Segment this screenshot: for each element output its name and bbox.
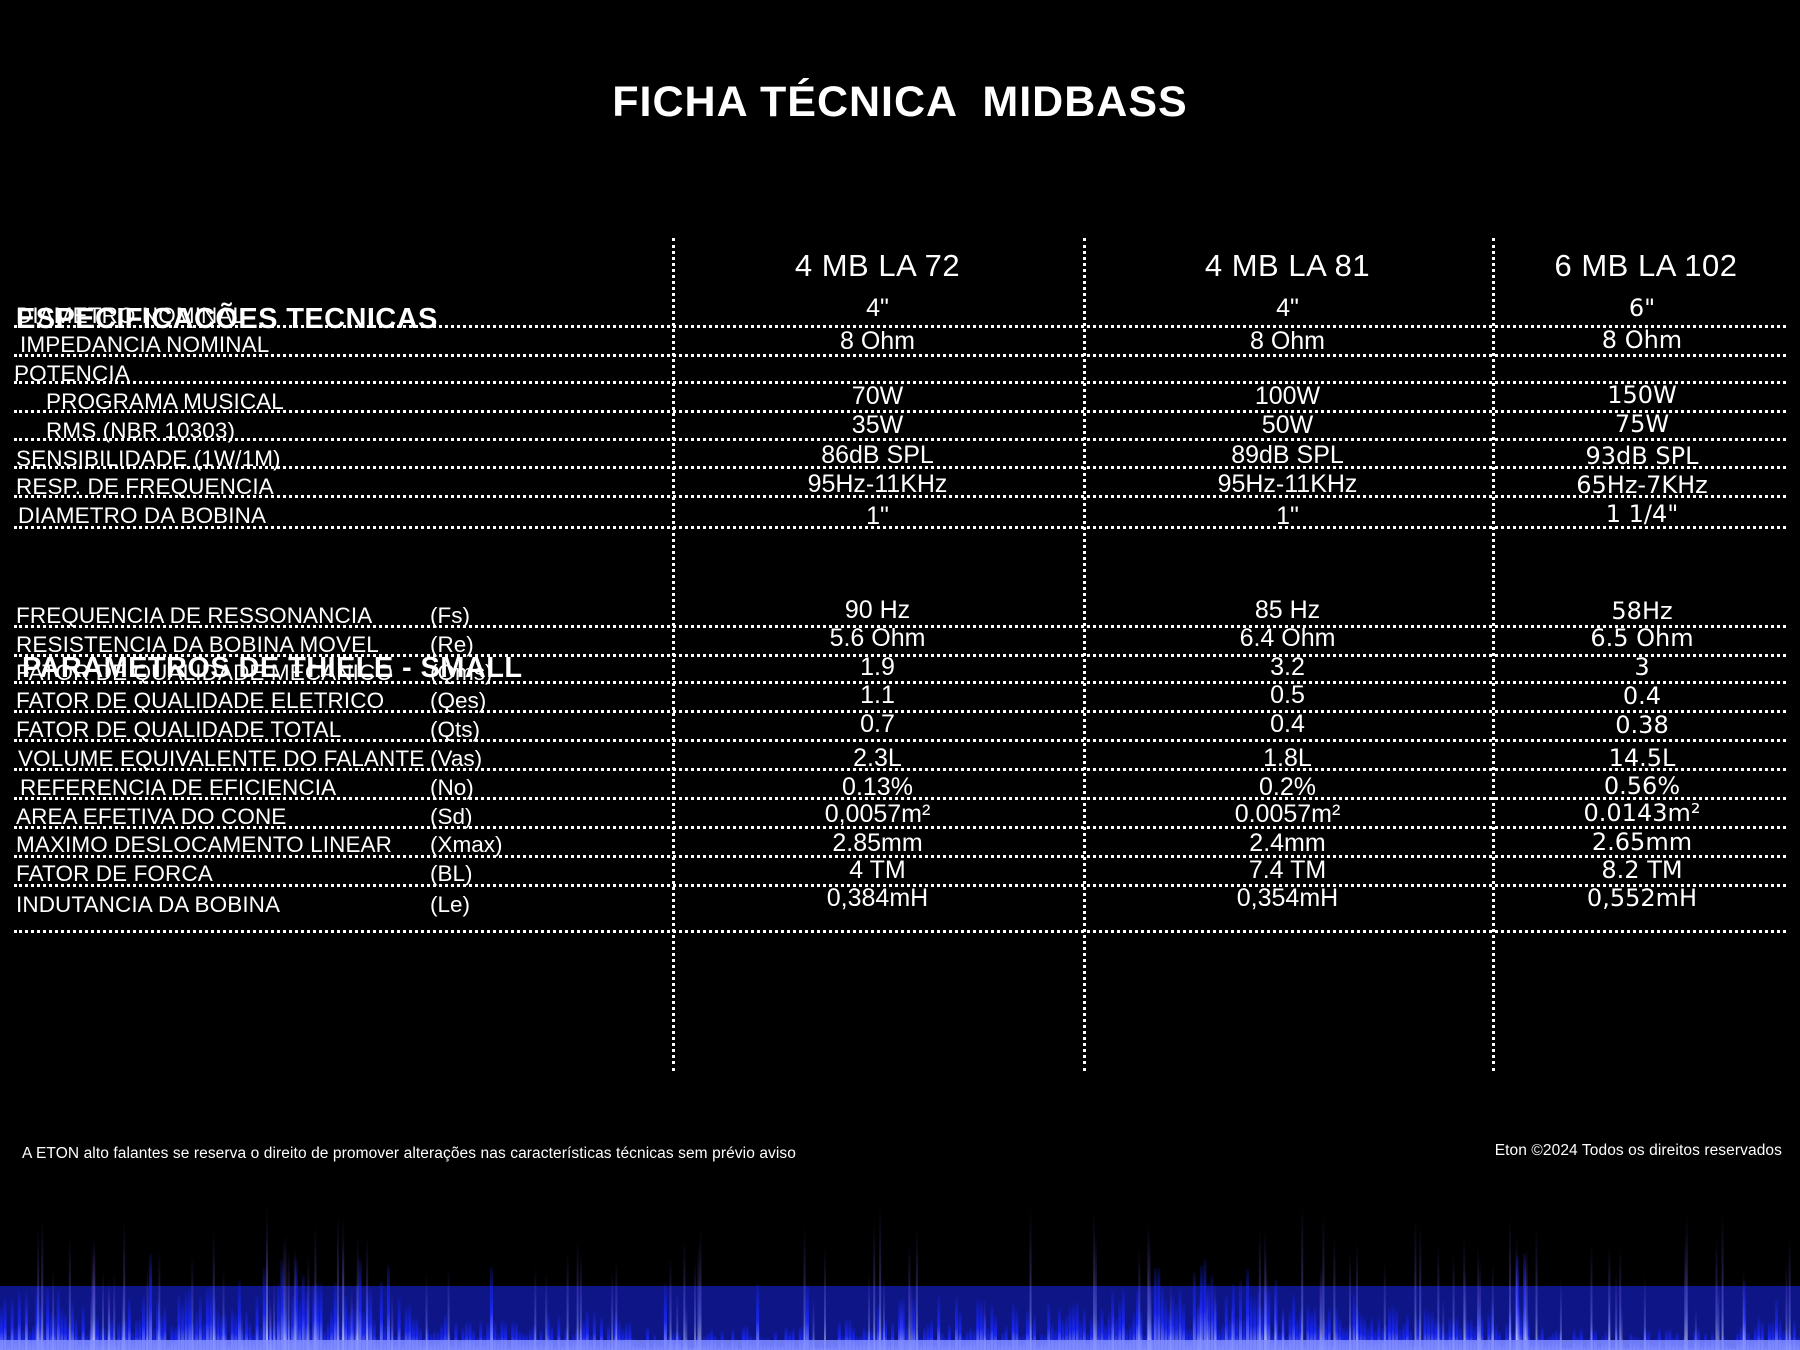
cell-value: 65Hz-7KHz (1492, 471, 1792, 499)
cell-value: 95Hz-11KHz (1083, 470, 1492, 499)
cell-value: 7.4 TM (1083, 856, 1492, 885)
cell-value: 86dB SPL (672, 441, 1083, 470)
cell-value: 0.38 (1492, 711, 1792, 739)
audio-spectrum-graphic (0, 1190, 1800, 1350)
cell-value: 0.4 (1083, 710, 1492, 739)
cell-value: 100W (1083, 382, 1492, 411)
cell-value: 93dB SPL (1492, 442, 1792, 470)
cell-value: 0,384mH (672, 884, 1083, 913)
cell-value: 6.5 Ohm (1492, 624, 1792, 652)
cell-value: 35W (672, 411, 1083, 440)
row-separator (14, 739, 1786, 742)
cell-value: 8 Ohm (1492, 326, 1792, 354)
cell-value: 2.3L (672, 744, 1083, 773)
cell-value: 0.0057m² (1083, 800, 1492, 829)
cell-value: 150W (1492, 381, 1792, 409)
cell-value: 1" (1083, 502, 1492, 531)
cell-value: 1.1 (672, 681, 1083, 710)
cell-value: 0.4 (1492, 682, 1792, 710)
cell-value: 6.4 Ohm (1083, 624, 1492, 653)
cell-value: 0.0143m² (1492, 799, 1792, 827)
cell-value: 0.13% (672, 773, 1083, 802)
cell-value: 4" (672, 294, 1083, 323)
column-header-2: 4 MB LA 81 (1083, 248, 1492, 284)
cell-value: 0,552mH (1492, 884, 1792, 912)
cell-value: 6" (1492, 294, 1792, 322)
cell-value: 2.85mm (672, 829, 1083, 858)
cell-value: 2.65mm (1492, 828, 1792, 856)
cell-value: 1" (672, 502, 1083, 531)
cell-value: 14.5L (1492, 744, 1792, 772)
cell-value: 5.6 Ohm (672, 624, 1083, 653)
cell-value: 50W (1083, 411, 1492, 440)
column-header-3: 6 MB LA 102 (1492, 248, 1800, 284)
footer-disclaimer: A ETON alto falantes se reserva o direit… (22, 1145, 796, 1163)
cell-value: 4 TM (672, 856, 1083, 885)
cell-value: 8 Ohm (672, 327, 1083, 356)
cell-value: 4" (1083, 294, 1492, 323)
cell-value: 0,0057m² (672, 800, 1083, 829)
cell-value: 0.56% (1492, 772, 1792, 800)
row-symbol: (Le) (430, 892, 470, 918)
cell-value: 89dB SPL (1083, 441, 1492, 470)
cell-value: 90 Hz (672, 596, 1083, 625)
cell-value: 0,354mH (1083, 884, 1492, 913)
cell-value: 0.5 (1083, 681, 1492, 710)
cell-value: 0.2% (1083, 773, 1492, 802)
cell-value: 3 (1492, 653, 1792, 681)
cell-value: 58Hz (1492, 597, 1792, 625)
cell-value: 0.7 (672, 710, 1083, 739)
row-separator (14, 930, 1786, 933)
cell-value: 1.9 (672, 653, 1083, 682)
footer-copyright: Eton ©2024 Todos os direitos reservados (1495, 1142, 1782, 1160)
cell-value: 8 Ohm (1083, 327, 1492, 356)
column-header-1: 4 MB LA 72 (672, 248, 1083, 284)
cell-value: 8.2 TM (1492, 856, 1792, 884)
cell-value: 1 1/4" (1492, 500, 1792, 528)
cell-value: 75W (1492, 410, 1792, 438)
cell-value: 2.4mm (1083, 829, 1492, 858)
spec-sheet: FICHA TÉCNICA MIDBASS 4 MB LA 72 4 MB LA… (0, 0, 1800, 1350)
cell-value: 85 Hz (1083, 596, 1492, 625)
row-label: INDUTANCIA DA BOBINA (16, 892, 280, 918)
cell-value: 70W (672, 382, 1083, 411)
cell-value: 95Hz-11KHz (672, 470, 1083, 499)
cell-value: 3.2 (1083, 653, 1492, 682)
cell-value: 1.8L (1083, 744, 1492, 773)
